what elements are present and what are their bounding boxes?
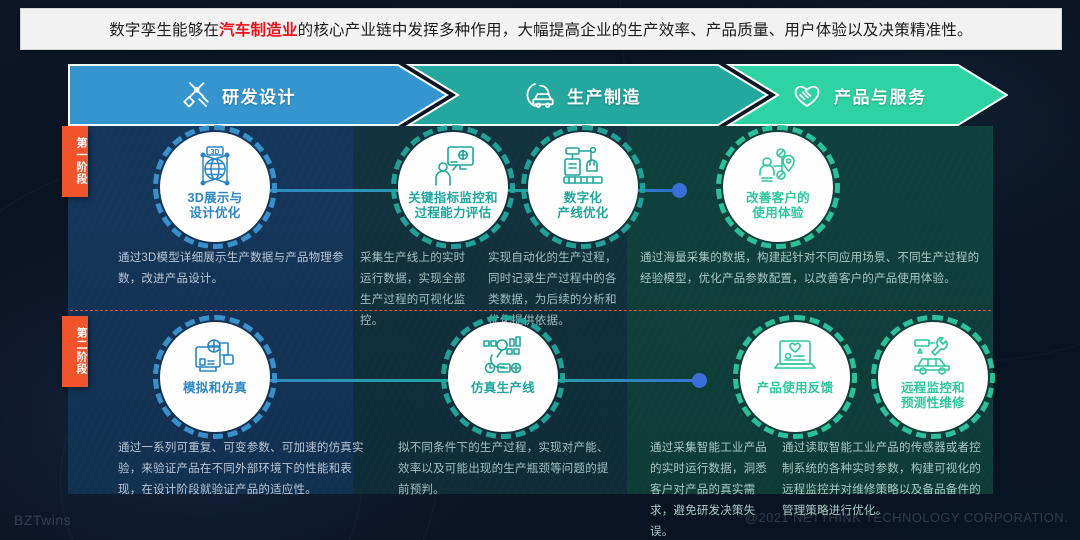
node-improve-customer-experience[interactable]: 改善客户的 使用体验 <box>723 132 833 242</box>
stage-2-row: 模拟和仿真 <box>68 316 993 500</box>
node-circle: 数字化 产线优化 <box>528 132 638 242</box>
node-circle: 仿真生产线 <box>448 322 558 432</box>
node-description: 通过一系列可重复、可变参数、可加速的仿真实验，来验证产品在不同外部环境下的性能和… <box>118 438 368 501</box>
phase-label: 产品与服务 <box>834 83 927 108</box>
content-panel: 第一阶段 第二阶段 3D <box>68 126 993 494</box>
node-product-usage-feedback[interactable]: 产品使用反馈 <box>740 322 850 432</box>
node-simulation-and-emulation[interactable]: 模拟和仿真 <box>160 322 270 432</box>
node-circle: 关键指标监控和 过程能力评估 <box>398 132 508 242</box>
node-ring <box>733 315 857 439</box>
header-banner: 数字孪生能够在汽车制造业的核心产业链中发挥多种作用，大幅提高企业的生产效率、产品… <box>20 8 1062 50</box>
node-ring <box>153 315 277 439</box>
handshake-heart-icon <box>790 78 824 112</box>
car-manufacturing-icon <box>523 78 557 112</box>
node-digital-production-line-optimization[interactable]: 数字化 产线优化 <box>528 132 638 242</box>
phase-ribbon: 研发设计 生产制造 产品与服务 <box>68 64 1008 126</box>
header-text-before: 数字孪生能够在 <box>109 22 219 39</box>
node-circle: 产品使用反馈 <box>740 322 850 432</box>
header-text: 数字孪生能够在汽车制造业的核心产业链中发挥多种作用，大幅提高企业的生产效率、产品… <box>109 18 973 40</box>
node-description: 通过3D模型详细展示生产数据与产品物理参数，改进产品设计。 <box>118 248 354 290</box>
node-ring <box>716 125 840 249</box>
header-text-after: 的核心产业链中发挥多种作用，大幅提高企业的生产效率、产品质量、用户体验以及决策精… <box>298 22 973 39</box>
node-3d-display-design-optimization[interactable]: 3D 3D展示与 设计优化 <box>160 132 270 242</box>
drafting-compass-icon <box>178 78 212 112</box>
phase-arrow-research-design[interactable]: 研发设计 <box>68 64 448 126</box>
connector-dot <box>692 373 707 388</box>
node-ring <box>441 315 565 439</box>
node-circle: 模拟和仿真 <box>160 322 270 432</box>
node-ring <box>391 125 515 249</box>
node-ring <box>871 315 995 439</box>
phase-label: 生产制造 <box>567 83 641 108</box>
node-kpi-monitoring-capability-assessment[interactable]: 关键指标监控和 过程能力评估 <box>398 132 508 242</box>
phase-label: 研发设计 <box>222 83 296 108</box>
node-description: 通过海量采集的数据，构建起针对不同应用场景、不同生产过程的经验模型，优化产品参数… <box>640 248 980 290</box>
node-circle: 远程监控和 预测性维修 <box>878 322 988 432</box>
node-ring <box>153 125 277 249</box>
connector-dot <box>672 183 687 198</box>
slide-canvas: 数字孪生能够在汽车制造业的核心产业链中发挥多种作用，大幅提高企业的生产效率、产品… <box>0 0 1080 540</box>
node-description: 拟不同条件下的生产过程，实现对产能、效率以及可能出现的生产瓶颈等问题的提前预判。 <box>398 438 618 501</box>
stage-1-row: 3D 3D展示与 设计优化 <box>68 126 993 310</box>
node-circle: 3D 3D展示与 设计优化 <box>160 132 270 242</box>
phase-arrow-production[interactable]: 生产制造 <box>408 64 768 126</box>
node-ring <box>521 125 645 249</box>
node-remote-monitoring-predictive-maintenance[interactable]: 远程监控和 预测性维修 <box>878 322 988 432</box>
node-circle: 改善客户的 使用体验 <box>723 132 833 242</box>
phase-arrow-product-service[interactable]: 产品与服务 <box>728 64 1008 126</box>
header-highlight: 汽车制造业 <box>219 22 298 39</box>
watermark-left: BZTwins <box>14 512 71 528</box>
watermark-right: @2021 NETTHINK TECHNOLOGY CORPORATION. <box>745 510 1068 525</box>
node-simulated-production-line[interactable]: 仿真生产线 <box>448 322 558 432</box>
